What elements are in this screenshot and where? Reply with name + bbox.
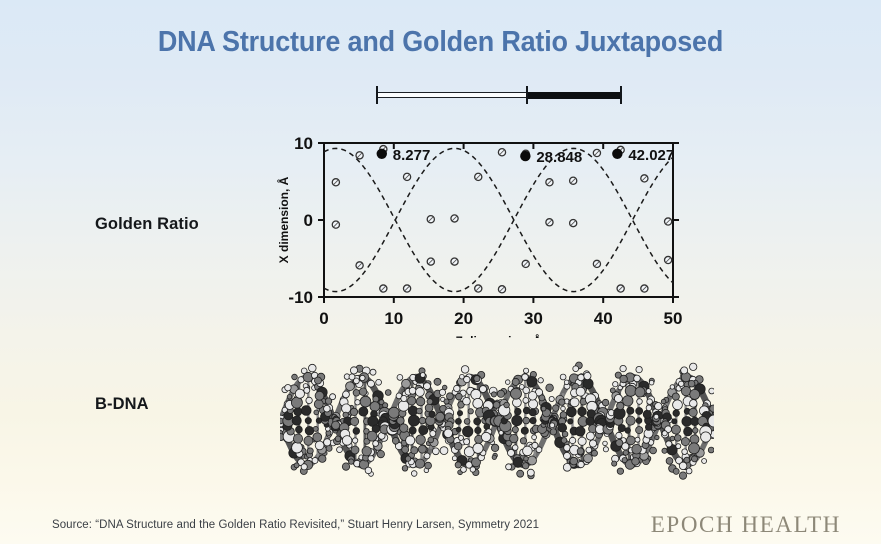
x-tick-label: 0 [319,309,328,328]
atom-sphere [505,380,510,385]
atom-sphere [464,419,470,425]
atom-sphere [360,396,371,407]
atom-sphere [408,397,416,405]
atom-sphere [564,452,571,459]
atom-sphere [523,417,530,424]
atom-sphere [349,459,354,464]
atom-sphere [409,427,416,434]
atom-sphere [560,374,566,380]
atom-sphere [532,435,537,440]
atom-sphere [646,405,652,411]
atom-sphere [402,446,409,453]
atom-sphere [701,432,711,442]
atom-sphere [654,414,659,419]
atom-sphere [546,384,554,392]
atom-sphere [359,388,367,396]
atom-sphere [397,375,403,381]
atom-sphere [432,448,439,455]
atom-sphere [315,441,324,450]
atom-sphere [666,441,672,447]
atom-sphere [397,417,404,424]
atom-sphere [377,450,384,457]
atom-sphere [623,450,628,455]
atom-sphere [530,417,536,423]
atom-sphere [306,397,312,403]
atom-sphere [623,396,633,406]
atom-sphere [457,411,462,416]
atom-sphere [510,434,518,442]
atom-sphere [420,373,425,378]
atom-sphere [454,442,462,450]
atom-sphere [679,381,684,386]
atom-sphere [655,403,662,410]
atom-sphere [661,399,666,404]
atom-sphere [690,400,698,408]
y-tick-label: 10 [294,134,313,153]
annotation-label: 42.027 [628,147,674,164]
atom-sphere [673,410,680,417]
atom-sphere [662,448,667,453]
atom-sphere [492,455,496,459]
atom-sphere [622,458,627,463]
atom-sphere [650,447,657,454]
page-title: DNA Structure and Golden Ratio Juxtapose… [31,26,850,59]
atom-sphere [296,426,303,433]
atom-sphere [524,456,529,461]
atom-sphere [335,436,341,442]
atom-sphere [620,365,626,371]
atom-sphere [673,468,679,474]
atom-sphere [291,397,302,408]
scale-bar [376,86,622,104]
atom-sphere [304,436,313,445]
atom-sphere [681,367,688,374]
atom-sphere [427,399,433,405]
atom-sphere [439,389,445,395]
atom-sphere [455,462,461,468]
atom-sphere [527,469,534,476]
atom-sphere [573,366,579,372]
atom-sphere [527,377,537,387]
atom-sphere [690,363,697,370]
atom-sphere [626,416,635,425]
atom-sphere [511,388,522,399]
atom-sphere [689,408,697,416]
atom-sphere [538,378,543,383]
atom-sphere [370,402,380,412]
atom-sphere [354,378,360,384]
atom-sphere [419,426,428,435]
atom-sphere [709,388,714,394]
scale-bar-right-cap [620,86,622,104]
y-tick-label: 0 [304,211,313,230]
atom-sphere [645,424,652,431]
atom-sphere [570,398,579,407]
atom-sphere [351,446,359,454]
x-tick-label: 30 [524,309,543,328]
atom-sphere [332,421,340,429]
atom-sphere [468,409,473,414]
atom-sphere [568,419,573,424]
atom-sphere [693,428,698,433]
atom-sphere [324,439,331,446]
atom-sphere [418,445,426,453]
atom-sphere [481,432,490,441]
scale-bar-filled-segment [527,92,621,99]
atom-sphere [473,398,483,408]
atom-sphere [560,412,567,419]
atom-sphere [292,416,301,425]
atom-sphere [636,408,643,415]
atom-sphere [562,431,568,437]
atom-sphere [578,461,584,467]
atom-sphere [343,391,350,398]
atom-sphere [415,459,424,468]
annotated-point [377,149,387,159]
atom-sphere [293,434,302,443]
atom-sphere [620,375,628,383]
atom-sphere [564,380,569,385]
atom-sphere [532,442,538,448]
atom-sphere [520,438,526,444]
atom-sphere [702,459,707,464]
atom-sphere [569,437,575,443]
atom-sphere [416,435,426,445]
atom-sphere [430,431,436,437]
series-line-strand-2 [324,148,673,291]
atom-sphere [602,399,609,406]
atom-sphere [529,400,538,409]
atom-sphere [672,425,681,434]
atom-sphere [312,458,318,464]
atom-sphere [670,385,674,389]
atom-sphere [313,426,318,431]
scale-bar-left-cap [376,86,378,104]
atom-sphere [474,418,481,425]
atom-sphere [649,380,654,385]
atom-sphere [324,405,331,412]
atom-sphere [424,383,431,390]
atom-sphere [355,400,360,405]
atom-sphere [577,448,584,455]
atom-sphere [285,385,291,391]
atom-sphere [360,375,365,380]
annotated-point [520,151,530,161]
atom-sphere [464,376,470,382]
atom-sphere [440,447,448,455]
atom-sphere [676,444,681,449]
plot-frame [324,143,673,297]
atom-sphere [508,449,515,456]
atom-sphere [464,439,470,445]
atom-sphere [504,402,510,408]
atom-sphere [474,376,480,382]
atom-sphere [455,418,461,424]
atom-sphere [294,408,302,416]
atom-sphere [444,399,449,404]
atom-sphere [409,387,416,394]
atom-sphere [515,408,522,415]
atom-sphere [539,395,545,401]
atom-sphere [411,447,418,454]
atom-sphere [463,397,471,405]
atom-sphere [350,417,358,425]
atom-sphere [634,375,641,382]
atom-sphere [473,443,483,453]
atom-sphere [402,466,408,472]
atom-sphere [616,439,623,446]
atom-sphere [592,450,598,456]
atom-sphere [350,408,357,415]
dna-svg [280,348,714,494]
atom-sphere [637,399,643,405]
atom-sphere [305,426,314,435]
atom-sphere [425,404,433,412]
atom-sphere [586,447,592,453]
atom-sphere [679,462,687,470]
atom-sphere [392,438,399,445]
atom-sphere [428,437,434,443]
atom-sphere [662,431,667,436]
atom-sphere [405,456,410,461]
atom-sphere [616,432,622,438]
atom-sphere [553,405,559,411]
atom-sphere [684,427,693,436]
atom-sphere [452,456,457,461]
x-axis-label: Z dimension, Å [455,333,541,338]
atom-sphere [292,442,303,453]
atom-sphere [459,435,464,440]
atom-sphere [578,437,586,445]
dna-atoms [280,362,714,479]
atom-sphere [708,447,714,453]
atom-sphere [603,447,608,452]
atom-sphere [690,389,700,399]
atom-sphere [617,468,623,474]
source-citation: Source: “DNA Structure and the Golden Ra… [52,519,539,531]
atom-sphere [692,456,698,462]
atom-sphere [610,388,615,393]
atom-sphere [491,392,496,397]
atom-sphere [682,449,688,455]
scale-bar-middle-cap [526,86,528,104]
atom-sphere [506,464,512,470]
atom-sphere [647,399,653,405]
atom-sphere [416,388,425,397]
scale-bar-hollow-segment [377,92,528,98]
x-tick-label: 50 [664,309,683,328]
atom-sphere [353,390,360,397]
atom-sphere [561,406,566,411]
atom-sphere [408,415,419,426]
atom-sphere [398,401,409,412]
atom-sphere [635,387,645,397]
atom-sphere [402,379,411,388]
atom-sphere [584,454,593,463]
y-axis-label: X dimension, Å [276,176,291,263]
atom-sphere [688,380,695,387]
atom-sphere [416,408,422,414]
b-dna-model-image [280,348,714,494]
atom-sphere [314,410,319,415]
atom-sphere [643,410,651,418]
atom-sphere [314,400,323,409]
atom-sphere [675,435,682,442]
atom-sphere [326,445,332,451]
atom-sphere [636,366,642,372]
atom-sphere [512,445,518,451]
atom-sphere [444,429,453,438]
atom-sphere [550,423,555,428]
atom-sphere [512,378,519,385]
atom-sphere [419,417,426,424]
atom-sphere [342,463,349,470]
atom-sphere [342,404,351,413]
atom-sphere [352,438,357,443]
atom-sphere [353,428,360,435]
atom-sphere [655,435,659,439]
x-tick-label: 40 [594,309,613,328]
atom-sphere [388,407,399,418]
atom-sphere [689,443,700,454]
atom-sphere [313,433,322,442]
atom-sphere [672,393,679,400]
atom-sphere [672,419,677,424]
atom-sphere [365,467,372,474]
atom-sphere [400,424,408,432]
row-label-b-dna: B-DNA [95,395,149,414]
atom-sphere [635,437,640,442]
atom-sphere [627,436,636,445]
atom-sphere [570,457,578,465]
atom-sphere [625,428,631,434]
chart-svg: 01020304050-10010Z dimension, ÅX dimensi… [272,126,692,338]
atom-sphere [632,444,642,454]
atom-sphere [315,377,322,384]
atom-sphere [471,389,481,399]
atom-sphere [524,368,529,373]
atom-sphere [575,427,585,437]
atom-sphere [456,427,461,432]
annotated-point [612,149,622,159]
atom-sphere [367,431,377,441]
series-line-strand-1 [324,148,673,291]
atom-sphere [362,447,371,456]
atom-sphere [586,432,594,440]
atom-sphere [576,387,585,396]
atom-sphere [528,456,537,465]
atom-sphere [416,397,425,406]
atom-sphere [434,378,441,385]
atom-sphere [636,427,643,434]
atom-sphere [523,446,533,456]
atom-sphere [584,372,591,379]
atom-sphere [523,463,529,469]
atom-sphere [632,458,640,466]
atom-sphere [304,387,310,393]
atom-sphere [679,472,686,479]
atom-sphere [521,427,528,434]
atom-sphere [454,385,460,391]
atom-sphere [603,441,608,446]
atom-sphere [470,467,475,472]
atom-sphere [528,392,537,401]
atom-sphere [295,389,304,398]
atom-sphere [512,415,522,425]
atom-sphere [305,418,311,424]
atom-sphere [681,438,689,446]
atom-sphere [512,427,518,433]
atom-sphere [294,463,299,468]
atom-sphere [523,398,529,404]
atom-sphere [301,406,311,416]
atom-sphere [541,406,546,411]
atom-sphere [614,395,622,403]
atom-sphere [461,366,469,374]
annotation-label: 8.277 [393,147,431,164]
annotation-label: 28.848 [536,149,582,166]
atom-sphere [461,467,467,473]
atom-sphere [406,436,415,445]
atom-sphere [612,461,617,466]
atom-sphere [425,462,432,469]
atom-sphere [373,396,379,402]
atom-sphere [673,400,683,410]
atom-sphere [424,453,430,459]
atom-sphere [301,464,307,470]
atom-sphere [350,367,357,374]
atom-sphere [550,429,556,435]
atom-sphere [666,458,673,465]
atom-sphere [330,394,336,400]
atom-sphere [337,447,343,453]
x-tick-label: 20 [454,309,473,328]
atom-sphere [646,389,651,394]
atom-sphere [463,426,473,436]
atom-sphere [559,399,565,405]
atom-sphere [517,470,524,477]
golden-ratio-chart: 01020304050-10010Z dimension, ÅX dimensi… [272,126,692,338]
atom-sphere [613,382,618,387]
atom-sphere [686,468,692,474]
atom-sphere [370,369,376,375]
atom-sphere [567,407,577,417]
epoch-health-logo: EPOCH HEALTH [651,512,841,538]
atom-sphere [627,407,634,414]
atom-sphere [636,418,642,424]
y-tick-label: -10 [288,288,313,307]
atom-sphere [411,471,417,477]
atom-sphere [491,444,498,451]
atom-sphere [359,407,368,416]
atom-sphere [368,380,375,387]
atom-sphere [309,364,317,372]
atom-sphere [578,407,587,416]
atom-sphere [456,393,463,400]
atom-sphere [625,385,636,396]
atom-sphere [385,390,391,396]
atom-sphere [287,395,292,400]
atom-sphere [307,448,313,454]
atom-sphere [342,436,352,446]
x-tick-label: 10 [384,309,403,328]
atom-sphere [292,374,298,380]
atom-sphere [549,396,554,401]
atom-sphere [523,387,530,394]
atom-sphere [561,438,567,444]
atom-sphere [670,436,675,441]
atom-sphere [401,395,407,401]
